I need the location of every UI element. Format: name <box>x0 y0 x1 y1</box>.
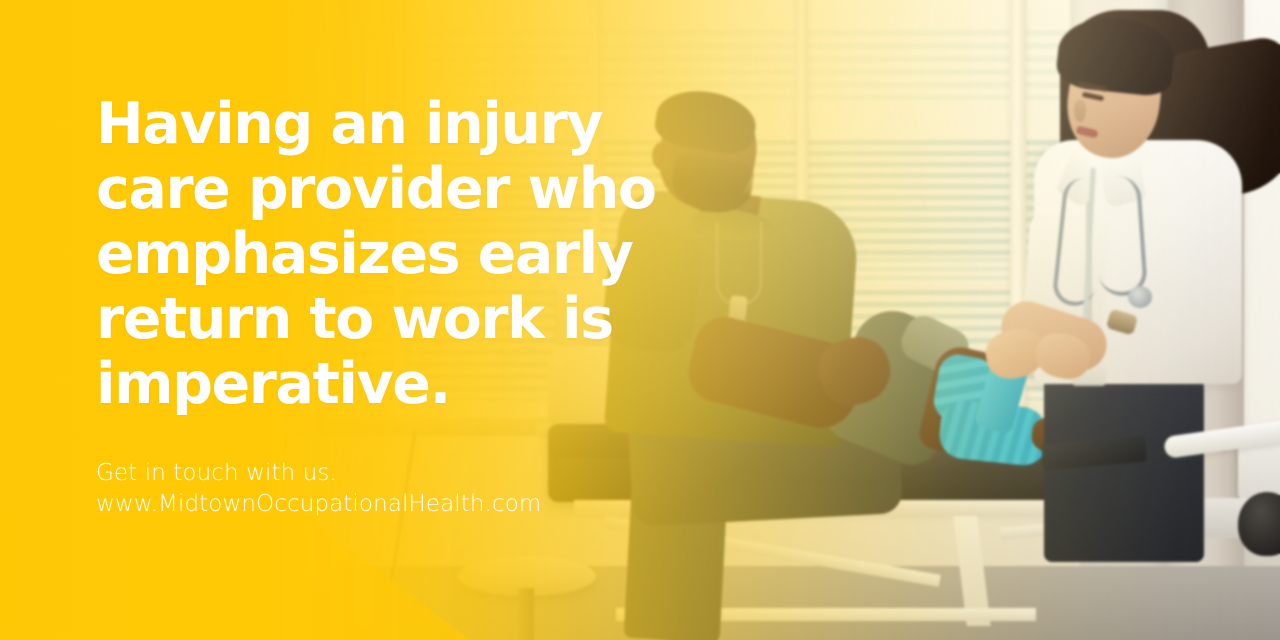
stethoscope-bell <box>1128 286 1152 308</box>
rolling-stool-post <box>518 588 534 640</box>
call-to-action-block: Get in touch with us. www.MidtownOccupat… <box>96 458 736 520</box>
clinic-photo <box>0 0 1280 640</box>
window-blinds-upper <box>200 30 1070 100</box>
patient-sleeve <box>600 226 704 355</box>
marketing-banner: Having an injury care provider who empha… <box>0 0 1280 640</box>
cta-prompt: Get in touch with us. <box>96 458 736 489</box>
patient-ear <box>652 142 672 170</box>
stethoscope-tube-right <box>1092 174 1148 297</box>
clinician-nose <box>1074 100 1086 122</box>
cta-website[interactable]: www.MidtownOccupationalHealth.com <box>96 489 736 520</box>
window-mullion <box>392 0 406 440</box>
dog-tag-chain <box>716 222 762 306</box>
